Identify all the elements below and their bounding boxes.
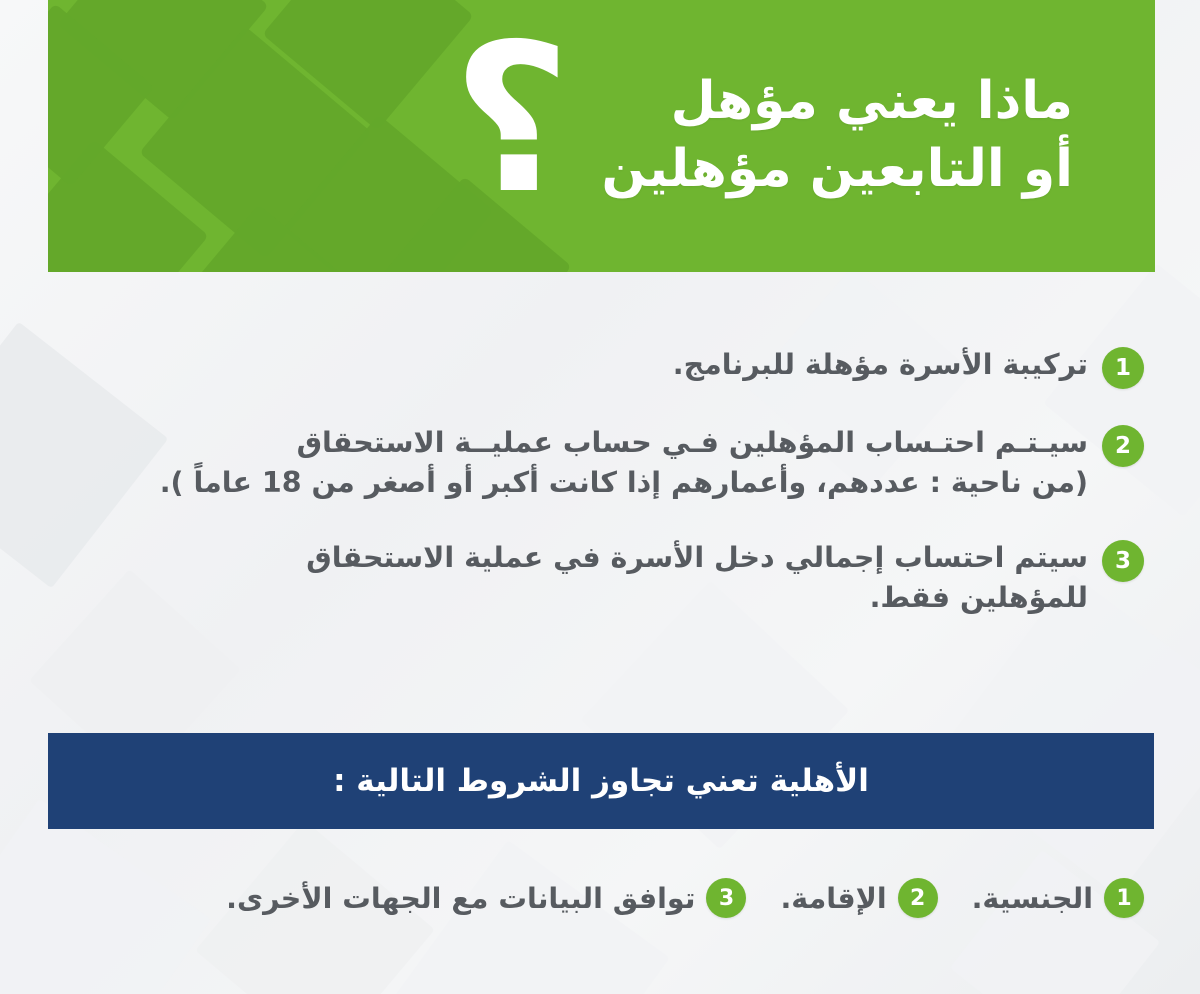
infographic-page: ؟ ماذا يعني مؤهل أو التابعين مؤهلين 1 تر…	[0, 0, 1200, 994]
list-item-text: سيتم احتساب إجمالي دخل الأسرة في عملية ا…	[306, 538, 1088, 619]
list-item-text: تركيبة الأسرة مؤهلة للبرنامج.	[673, 345, 1088, 385]
condition-text: توافق البيانات مع الجهات الأخرى.	[226, 882, 695, 915]
list-item-number-badge: 3	[1102, 540, 1144, 582]
eligibility-banner-text: الأهلية تعني تجاوز الشروط التالية :	[333, 763, 869, 799]
condition-number-badge: 1	[1104, 878, 1144, 918]
list-item-number-badge: 1	[1102, 347, 1144, 389]
list-item-number-badge: 2	[1102, 425, 1144, 467]
conditions-row: 1 الجنسية. 2 الإقامة. 3 توافق البيانات م…	[0, 878, 1200, 918]
condition-number-badge: 3	[706, 878, 746, 918]
condition-text: الجنسية.	[972, 882, 1093, 915]
qualification-list: 1 تركيبة الأسرة مؤهلة للبرنامج. 2 سيـتـم…	[0, 345, 1200, 653]
list-item: 3 سيتم احتساب إجمالي دخل الأسرة في عملية…	[30, 538, 1144, 619]
eligibility-banner: الأهلية تعني تجاوز الشروط التالية :	[48, 733, 1154, 829]
condition-text: الإقامة.	[780, 882, 886, 915]
header-banner: ؟ ماذا يعني مؤهل أو التابعين مؤهلين	[48, 0, 1155, 272]
header-content: ماذا يعني مؤهل أو التابعين مؤهلين	[48, 0, 1155, 272]
condition-number-badge: 2	[898, 878, 938, 918]
page-title: ماذا يعني مؤهل أو التابعين مؤهلين	[602, 68, 1115, 203]
condition-item: 2 الإقامة.	[780, 878, 937, 918]
condition-item: 1 الجنسية.	[972, 878, 1144, 918]
list-item-text: سيـتـم احتـساب المؤهلين فـي حساب عمليــة…	[160, 423, 1088, 504]
list-item: 2 سيـتـم احتـساب المؤهلين فـي حساب عمليـ…	[30, 423, 1144, 504]
list-item: 1 تركيبة الأسرة مؤهلة للبرنامج.	[30, 345, 1144, 389]
question-mark-icon: ؟	[452, 18, 571, 223]
condition-item: 3 توافق البيانات مع الجهات الأخرى.	[226, 878, 746, 918]
